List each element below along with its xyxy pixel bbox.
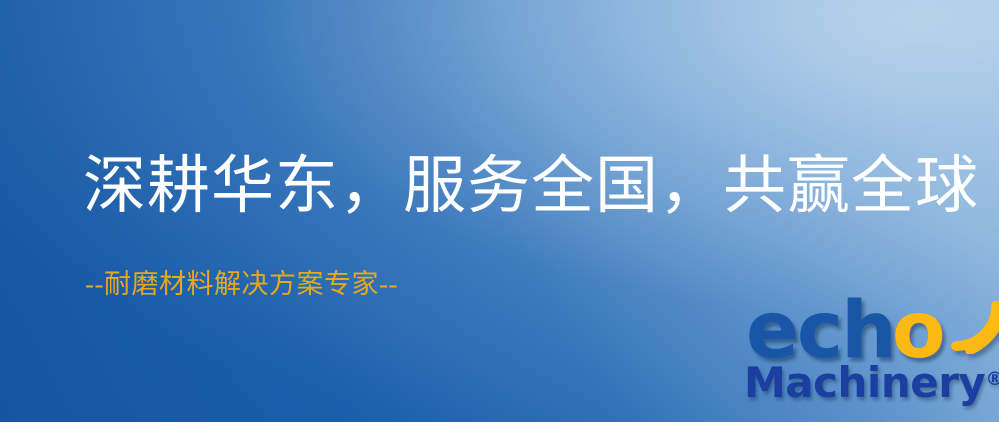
logo-product-line-text: Machinery [744,358,985,407]
banner-headline: 深耕华东，服务全国，共赢全球 [83,152,963,220]
banner-subtitle: --耐磨材料解决方案专家-- [85,268,398,300]
signal-arcs-icon [930,284,999,354]
company-logo: ech o Machinery® [744,296,999,422]
registered-trademark-icon: ® [985,368,999,390]
promo-banner: 深耕华东，服务全国，共赢全球 --耐磨材料解决方案专家-- ech o Mach… [0,0,999,422]
logo-product-line: Machinery® [744,362,999,404]
